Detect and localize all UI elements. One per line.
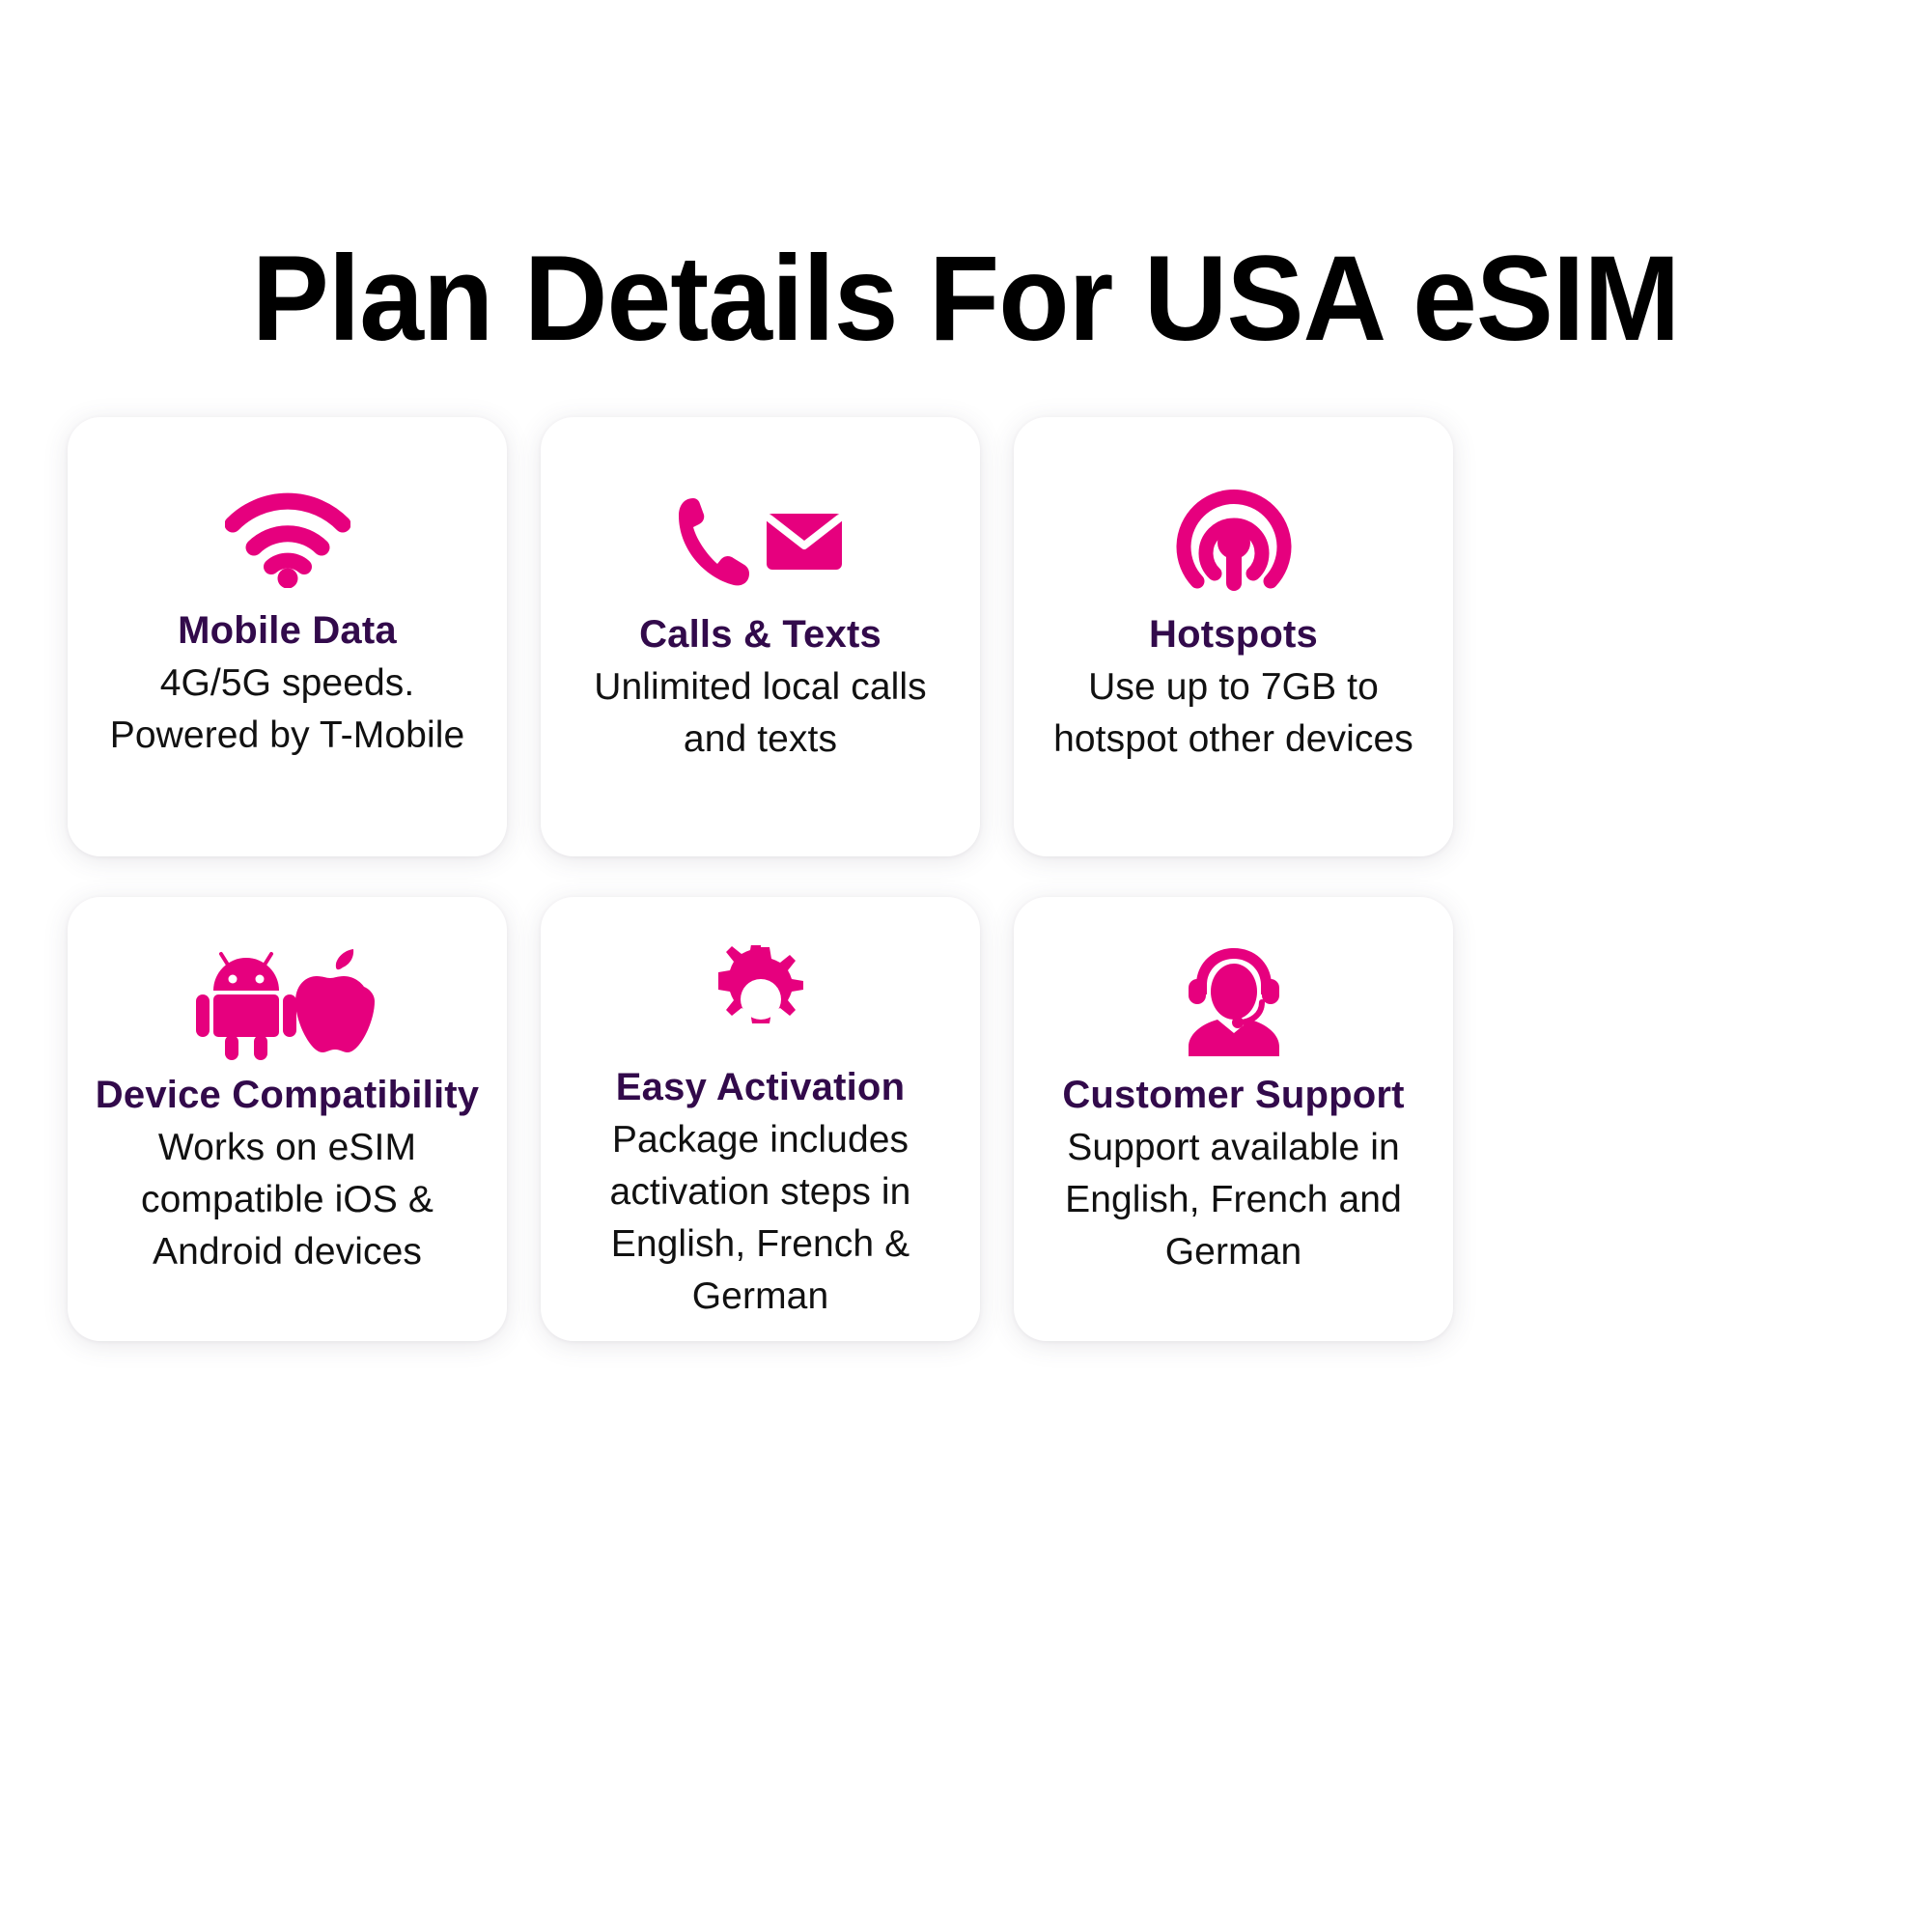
plan-details-page: Plan Details For USA eSIM Mobile Data 4G…	[0, 0, 1931, 1932]
card-title: Calls & Texts	[639, 610, 882, 659]
card-title: Device Compatibility	[96, 1071, 479, 1120]
phone-envelope-icon	[678, 485, 844, 601]
card-title: Mobile Data	[178, 606, 397, 656]
card-body: Works on eSIM compatible iOS & Android d…	[93, 1122, 482, 1277]
feature-card-grid: Mobile Data 4G/5G speeds. Powered by T-M…	[68, 417, 1863, 1341]
hotspot-broadcast-icon	[1174, 485, 1294, 601]
card-body: Unlimited local calls and texts	[566, 661, 955, 766]
android-icon	[196, 954, 296, 1060]
android-apple-icon	[196, 945, 379, 1061]
feature-card-hotspots[interactable]: Hotspots Use up to 7GB to hotspot other …	[1014, 417, 1453, 856]
card-body: Package includes activation steps in Eng…	[566, 1114, 955, 1322]
envelope-icon	[767, 514, 842, 570]
page-title: Plan Details For USA eSIM	[252, 236, 1680, 362]
page-title-container: Plan Details For USA eSIM	[0, 154, 1931, 443]
feature-card-calls-texts[interactable]: Calls & Texts Unlimited local calls and …	[541, 417, 980, 856]
feature-card-mobile-data[interactable]: Mobile Data 4G/5G speeds. Powered by T-M…	[68, 417, 507, 856]
wifi-icon	[225, 481, 350, 597]
card-body: Use up to 7GB to hotspot other devices	[1039, 661, 1428, 766]
apple-icon	[295, 949, 375, 1052]
feature-card-device-compatibility[interactable]: Device Compatibility Works on eSIM compa…	[68, 897, 507, 1341]
card-body: 4G/5G speeds. Powered by T-Mobile	[93, 658, 482, 762]
card-title: Easy Activation	[616, 1063, 905, 1112]
phone-icon	[679, 498, 749, 585]
headset-agent-icon	[1183, 945, 1285, 1061]
card-body: Support available in English, French and…	[1039, 1122, 1428, 1277]
card-title: Hotspots	[1149, 610, 1318, 659]
card-title: Customer Support	[1062, 1071, 1404, 1120]
feature-card-easy-activation[interactable]: Easy Activation Package includes activat…	[541, 897, 980, 1341]
feature-card-customer-support[interactable]: Customer Support Support available in En…	[1014, 897, 1453, 1341]
gear-icon	[707, 945, 815, 1053]
